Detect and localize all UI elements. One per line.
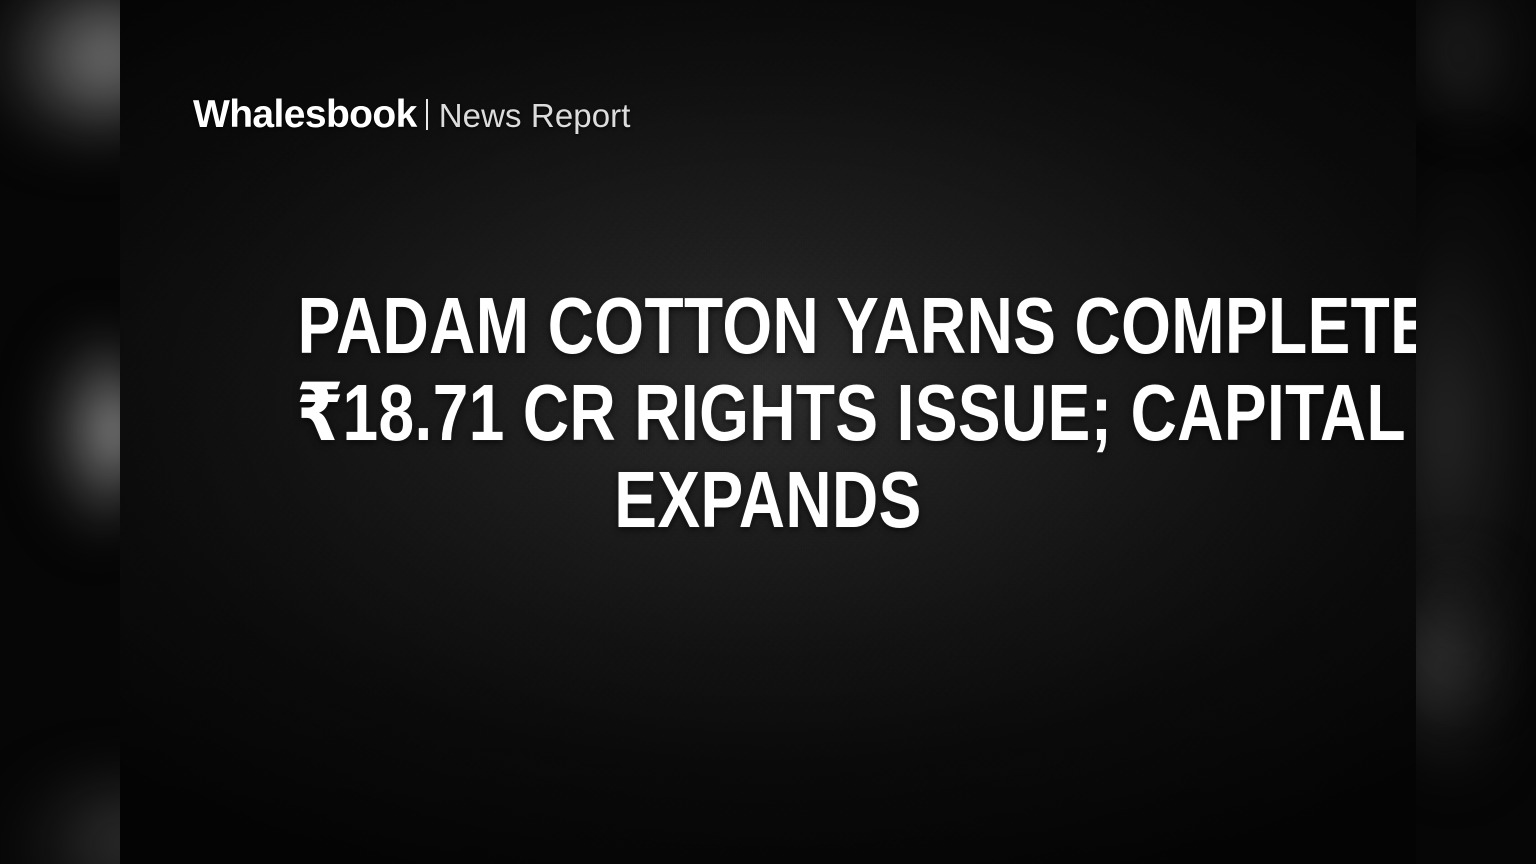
backdrop-glow-right-edge (1404, 150, 1536, 710)
news-report-card-stage: Whalesbook News Report PADAM COTTON YARN… (0, 0, 1536, 864)
rupee-symbol-icon: ₹ (296, 369, 344, 456)
headline-line-3: EXPANDS (298, 456, 1239, 543)
headline: PADAM COTTON YARNS COMPLETES ₹18.71 CR R… (180, 282, 1356, 543)
headline-line-2-text: 18.71 CR RIGHTS ISSUE; CAPITAL BASE (343, 368, 1416, 457)
headline-line-2: ₹18.71 CR RIGHTS ISSUE; CAPITAL BASE (298, 369, 1239, 456)
brand-name: Whalesbook (193, 95, 417, 134)
news-card: Whalesbook News Report PADAM COTTON YARN… (120, 0, 1416, 864)
brand-subtitle: News Report (439, 99, 631, 132)
brand-lockup: Whalesbook News Report (193, 95, 631, 141)
headline-line-1: PADAM COTTON YARNS COMPLETES (298, 282, 1239, 369)
brand-divider (426, 99, 428, 130)
backdrop-glow-right-top (1412, 0, 1536, 130)
